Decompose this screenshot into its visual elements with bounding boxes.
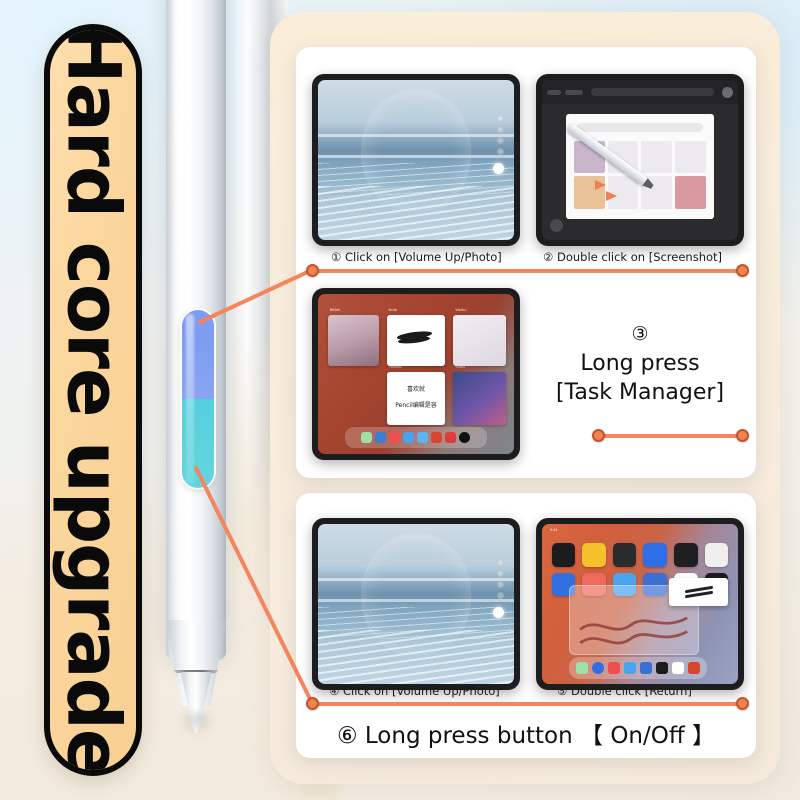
dock-icon[interactable] (389, 432, 400, 443)
step-3-caption-block: ③ Long press [Task Manager] (540, 324, 740, 407)
sphere-band (318, 155, 514, 158)
app-card-video[interactable] (453, 372, 506, 425)
connector-knob-step-1 (306, 264, 319, 277)
home-indicator-dot (550, 219, 563, 232)
app-card-note[interactable] (387, 315, 446, 366)
toolbar-chip (565, 90, 583, 95)
step-3-line-1: Long press (540, 349, 740, 379)
headline-text: Hard core upgrade (51, 24, 136, 776)
pointer-arrow-icon (595, 180, 606, 190)
app-card-bilibili[interactable] (328, 315, 379, 366)
stylus-product-photo (152, 0, 248, 760)
app-card-label: Note (389, 307, 397, 312)
floating-note-card[interactable] (669, 578, 728, 605)
step-1-caption: ① Click on [Volume Up/Photo] (331, 250, 502, 264)
tablet-mock-step-1 (312, 74, 520, 246)
status-bar-clock: 9:41 (550, 527, 558, 532)
dock-icon[interactable] (592, 662, 604, 674)
screen-side-dots (497, 115, 504, 155)
note-text-line-1: 喜欢就 (387, 384, 446, 393)
address-bar[interactable] (591, 88, 714, 96)
step-2-caption: ② Double click on [Screenshot] (543, 250, 722, 264)
connector-knob-step-2 (736, 264, 749, 277)
step-3-line-2: [Task Manager] (540, 379, 740, 408)
browser-page (566, 114, 715, 220)
water-surface (318, 186, 514, 240)
dock-icon[interactable] (640, 662, 652, 674)
connector-knob-step-4 (306, 697, 319, 710)
dock-icon[interactable] (445, 432, 456, 443)
app-icon[interactable] (674, 543, 698, 567)
tablet-screen-step-5: 9:41 (542, 524, 738, 684)
dock-icon[interactable] (403, 432, 414, 443)
glass-sphere-wallpaper (318, 80, 514, 240)
note-text-line-2: Pencil编辑是容 (387, 400, 446, 409)
tablet-mock-step-3: Bilibili Note Weibo Taobao Video 喜欢就 Pen… (312, 288, 520, 460)
connector-rail-top (312, 269, 742, 273)
screenshot-demo-screen (542, 80, 738, 240)
connector-rail-middle (598, 434, 742, 438)
dock-icon[interactable] (608, 662, 620, 674)
dock-icon[interactable] (624, 662, 636, 674)
step-5-caption: ⑤ Double click [Return] (557, 684, 692, 698)
home-dock (569, 657, 706, 679)
app-icon[interactable] (705, 543, 729, 567)
tablet-screen-step-2 (542, 80, 738, 240)
toolbar-chip (547, 90, 561, 95)
task-manager-dock (345, 427, 486, 448)
dock-icon[interactable] (576, 662, 588, 674)
task-manager-screen: Bilibili Note Weibo Taobao Video 喜欢就 Pen… (318, 294, 514, 454)
app-card-label: Weibo (455, 307, 466, 312)
stylus-tip-shadow (178, 712, 216, 738)
connector-knob-step-5 (736, 697, 749, 710)
dock-icon[interactable] (417, 432, 428, 443)
glass-sphere-wallpaper (318, 524, 514, 684)
app-card-taobao[interactable]: 喜欢就 Pencil编辑是容 (387, 372, 446, 425)
dock-icon[interactable] (431, 432, 442, 443)
dock-icon[interactable] (656, 662, 668, 674)
tablet-mock-step-5: 9:41 (536, 518, 744, 690)
tablet-screen-step-4 (318, 524, 514, 684)
app-icon[interactable] (643, 543, 667, 567)
tablet-mock-step-2 (536, 74, 744, 246)
sphere-band (318, 599, 514, 602)
app-card-weibo[interactable] (453, 315, 506, 366)
dock-icon[interactable] (672, 662, 684, 674)
app-card-label: Bilibili (330, 307, 340, 312)
product-cell (641, 141, 672, 173)
step-4-caption: ④ Click on [Volume Up/Photo] (329, 684, 500, 698)
tablet-mock-step-4 (312, 518, 520, 690)
tablet-screen-step-1 (318, 80, 514, 240)
sphere-band (318, 134, 514, 137)
home-screen: 9:41 (542, 524, 738, 684)
touch-zone-gloss (186, 314, 194, 484)
screen-side-dots (497, 559, 504, 599)
dock-icon[interactable] (375, 432, 386, 443)
connector-knob-step-3-right (736, 429, 749, 442)
browser-toolbar (542, 80, 738, 104)
app-icon[interactable] (613, 543, 637, 567)
step-6-caption: ⑥ Long press button 【 On/Off 】 (296, 716, 756, 750)
tablet-screen-step-3: Bilibili Note Weibo Taobao Video 喜欢就 Pen… (318, 294, 514, 454)
dock-icon[interactable] (361, 432, 372, 443)
step-3-number: ③ (540, 324, 740, 345)
app-icon[interactable] (552, 543, 576, 567)
product-cell (675, 141, 706, 173)
sphere-band (318, 578, 514, 581)
connector-rail-bottom (312, 702, 742, 706)
pointer-arrow-icon (606, 191, 617, 201)
dock-icon[interactable] (688, 662, 700, 674)
page-search-bar[interactable] (577, 123, 702, 132)
stylus-touch-zone[interactable] (182, 310, 214, 488)
product-cell (675, 176, 706, 208)
water-surface (318, 630, 514, 684)
app-icon[interactable] (582, 543, 606, 567)
headline-banner: Hard core upgrade (44, 24, 142, 776)
connector-knob-step-3-left (592, 429, 605, 442)
avatar (722, 87, 733, 98)
dock-icon[interactable] (459, 432, 470, 443)
